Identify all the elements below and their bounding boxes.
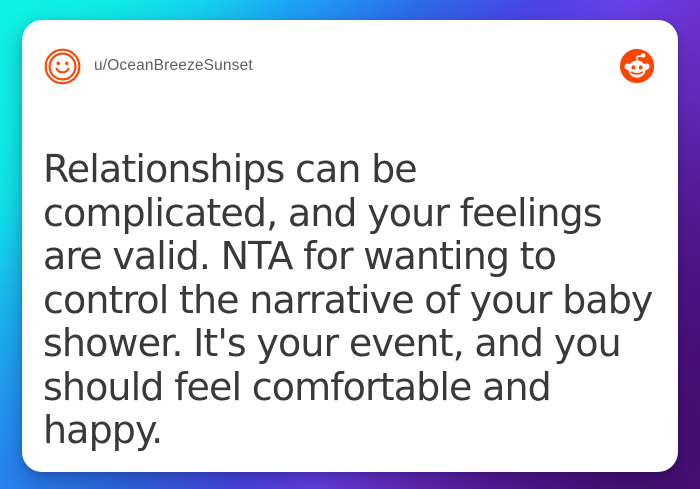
reddit-snoo-icon[interactable]: [619, 48, 655, 84]
username-label: u/OceanBreezeSunset: [94, 57, 253, 75]
smiley-face-icon: [44, 48, 81, 85]
quote-card: u/OceanBreezeSunset: [22, 20, 678, 472]
card-header: u/OceanBreezeSunset: [22, 20, 678, 112]
screenshot-stage: u/OceanBreezeSunset: [0, 0, 700, 489]
quote-text: Relationships can be complicated, and yo…: [43, 148, 656, 453]
card-body: Relationships can be complicated, and yo…: [22, 148, 678, 453]
